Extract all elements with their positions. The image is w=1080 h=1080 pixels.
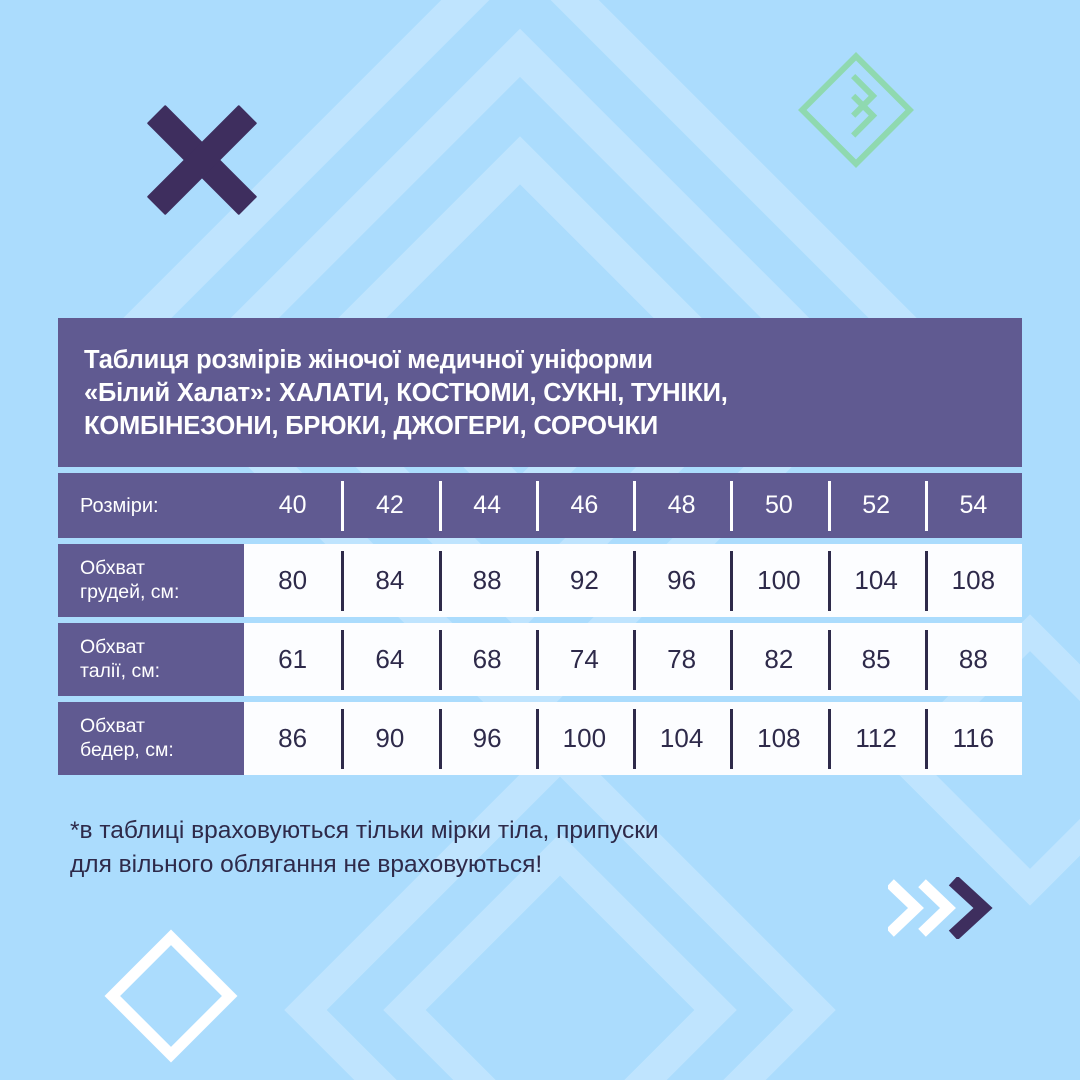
- value-cell: 104: [633, 702, 730, 775]
- value-cell: 88: [925, 623, 1022, 696]
- value-cell: 108: [730, 702, 827, 775]
- footnote-line-1: *в таблиці враховуються тільки мірки тіл…: [70, 814, 970, 848]
- size-cell: 40: [244, 473, 341, 538]
- row-label-line-2: бедер, см:: [80, 739, 244, 763]
- size-cell: 54: [925, 473, 1022, 538]
- value-cell: 68: [439, 623, 536, 696]
- diamond-outline-shape: [105, 930, 238, 1063]
- table-row: Обхват талії, см: 61 64 68 74 78 82 85 8…: [58, 623, 1022, 696]
- header-size-cells: 40 42 44 46 48 50 52 54: [244, 473, 1022, 538]
- value-cell: 116: [925, 702, 1022, 775]
- value-cell: 96: [439, 702, 536, 775]
- row-label-line-2: грудей, см:: [80, 581, 244, 605]
- value-cell: 100: [730, 544, 827, 617]
- value-cell: 100: [536, 702, 633, 775]
- value-cell: 74: [536, 623, 633, 696]
- row-value-cells: 80 84 88 92 96 100 104 108: [244, 544, 1022, 617]
- table-title-band: Таблиця розмірів жіночої медичної уніфор…: [58, 318, 1022, 467]
- value-cell: 88: [439, 544, 536, 617]
- row-value-cells: 61 64 68 74 78 82 85 88: [244, 623, 1022, 696]
- value-cell: 80: [244, 544, 341, 617]
- size-table: Таблиця розмірів жіночої медичної уніфор…: [58, 318, 1022, 775]
- brand-logo-icon: [798, 52, 914, 168]
- value-cell: 108: [925, 544, 1022, 617]
- row-value-cells: 86 90 96 100 104 108 112 116: [244, 702, 1022, 775]
- size-cell: 46: [536, 473, 633, 538]
- row-label-cell: Обхват талії, см:: [58, 623, 244, 696]
- footnote-line-2: для вільного облягання не враховуються!: [70, 848, 970, 882]
- poster-canvas: Таблиця розмірів жіночої медичної уніфор…: [0, 0, 1080, 1080]
- chevron-arrows-icon: [888, 877, 998, 939]
- value-cell: 104: [828, 544, 925, 617]
- size-cell: 48: [633, 473, 730, 538]
- row-label-line-1: Обхват: [80, 636, 244, 660]
- value-cell: 85: [828, 623, 925, 696]
- value-cell: 86: [244, 702, 341, 775]
- row-label-line-2: талії, см:: [80, 660, 244, 684]
- diamond-outline-icon: [108, 933, 220, 1045]
- table-row: Обхват грудей, см: 80 84 88 92 96 100 10…: [58, 544, 1022, 617]
- value-cell: 92: [536, 544, 633, 617]
- title-line-2: «Білий Халат»: ХАЛАТИ, КОСТЮМИ, СУКНІ, Т…: [84, 377, 996, 410]
- value-cell: 90: [341, 702, 438, 775]
- table-header-row: Розміри: 40 42 44 46 48 50 52 54: [58, 473, 1022, 538]
- header-label-cell: Розміри:: [58, 473, 244, 538]
- value-cell: 84: [341, 544, 438, 617]
- size-cell: 42: [341, 473, 438, 538]
- row-label-line-1: Обхват: [80, 715, 244, 739]
- value-cell: 112: [828, 702, 925, 775]
- size-cell: 44: [439, 473, 536, 538]
- value-cell: 78: [633, 623, 730, 696]
- title-line-1: Таблиця розмірів жіночої медичної уніфор…: [84, 344, 996, 377]
- title-line-3: КОМБІНЕЗОНИ, БРЮКИ, ДЖОГЕРИ, СОРОЧКИ: [84, 410, 996, 443]
- size-cell: 52: [828, 473, 925, 538]
- size-cell: 50: [730, 473, 827, 538]
- row-label-cell: Обхват грудей, см:: [58, 544, 244, 617]
- footnote: *в таблиці враховуються тільки мірки тіл…: [70, 814, 970, 882]
- row-label-line-1: Обхват: [80, 557, 244, 581]
- x-mark-icon: [140, 98, 264, 222]
- value-cell: 96: [633, 544, 730, 617]
- value-cell: 82: [730, 623, 827, 696]
- value-cell: 61: [244, 623, 341, 696]
- row-label-cell: Обхват бедер, см:: [58, 702, 244, 775]
- table-row: Обхват бедер, см: 86 90 96 100 104 108 1…: [58, 702, 1022, 775]
- value-cell: 64: [341, 623, 438, 696]
